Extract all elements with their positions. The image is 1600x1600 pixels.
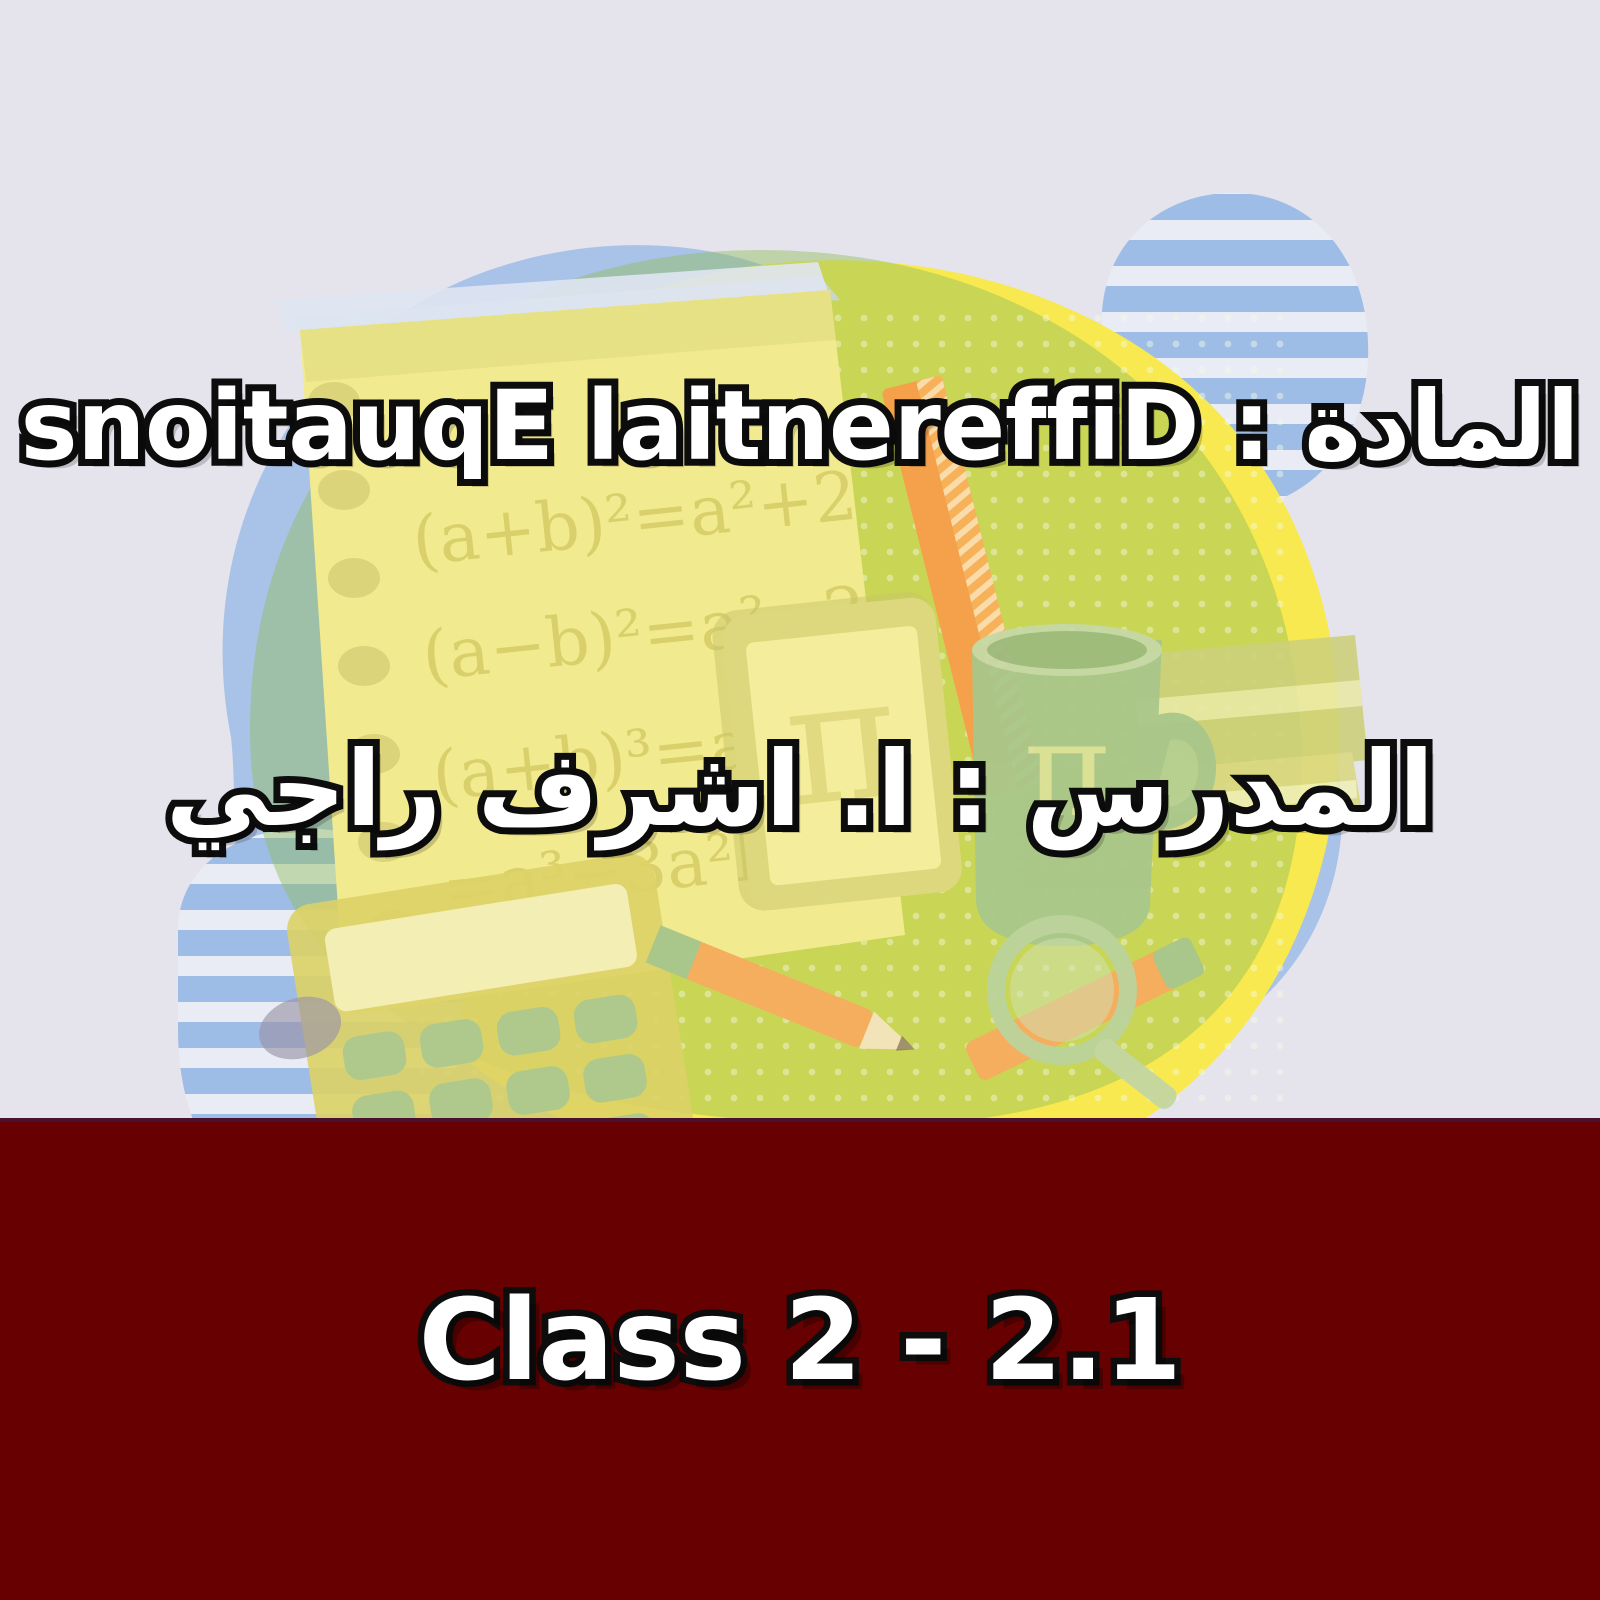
poster-canvas: π <box>0 0 1600 1600</box>
subject-headline: المادة : Differential Equations <box>20 378 1579 474</box>
teacher-headline: المدرس : ا. اشرف راجي <box>166 735 1435 844</box>
class-headline: Class 2 - 2.1 <box>419 1285 1182 1397</box>
band-top-divider <box>0 1118 1600 1122</box>
